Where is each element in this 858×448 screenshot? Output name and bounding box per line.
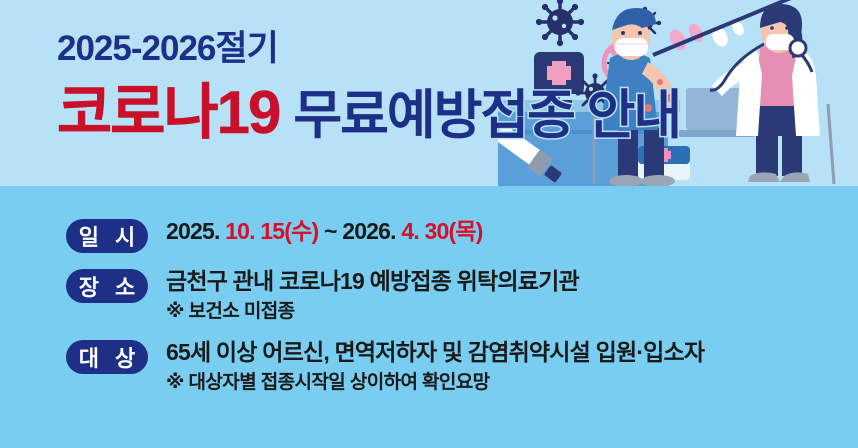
clinic-illustration <box>498 0 858 186</box>
virus-particle-large <box>536 0 584 46</box>
medical-cabinet-icon <box>534 52 584 104</box>
vaccination-banner: 2025-2026절기 코로나19 무료예방접종 안내 일 시 2025. 10… <box>0 0 858 448</box>
info-row-date: 일 시 2025. 10. 15(수) ~ 2026. 4. 30(목) <box>0 217 858 253</box>
date-seg-year-end: ~ 2026. <box>318 218 401 244</box>
target-note: ※ 대상자별 접종시작일 상이하여 확인요망 <box>166 370 704 396</box>
info-row-place: 장 소 금천구 관내 코로나19 예방접종 위탁의료기관 ※ 보건소 미접종 <box>0 267 858 324</box>
stethoscope-bell <box>790 40 806 56</box>
desk-line <box>498 130 668 134</box>
info-row-target: 대 상 65세 이상 어르신, 면역저하자 및 감염취약시설 입원·입소자 ※ … <box>0 338 858 395</box>
label-pill-date: 일 시 <box>66 219 148 253</box>
date-seg-year-start: 2025. <box>166 218 225 244</box>
info-text-place: 금천구 관내 코로나19 예방접종 위탁의료기관 ※ 보건소 미접종 <box>166 267 579 324</box>
info-section: 일 시 2025. 10. 15(수) ~ 2026. 4. 30(목) 장 소… <box>0 200 858 404</box>
place-note: ※ 보건소 미접종 <box>166 299 579 325</box>
target-line: 65세 이상 어르신, 면역저하자 및 감염취약시설 입원·입소자 <box>166 338 704 367</box>
label-pill-target: 대 상 <box>66 340 148 374</box>
info-text-target: 65세 이상 어르신, 면역저하자 및 감염취약시설 입원·입소자 ※ 대상자별… <box>166 338 704 395</box>
date-seg-end: 4. 30(목) <box>401 218 482 244</box>
label-pill-place: 장 소 <box>66 269 148 303</box>
info-text-date: 2025. 10. 15(수) ~ 2026. 4. 30(목) <box>166 217 483 246</box>
date-seg-start: 10. 15(수) <box>225 218 318 244</box>
place-line: 금천구 관내 코로나19 예방접종 위탁의료기관 <box>166 267 579 296</box>
date-line: 2025. 10. 15(수) ~ 2026. 4. 30(목) <box>166 217 483 246</box>
